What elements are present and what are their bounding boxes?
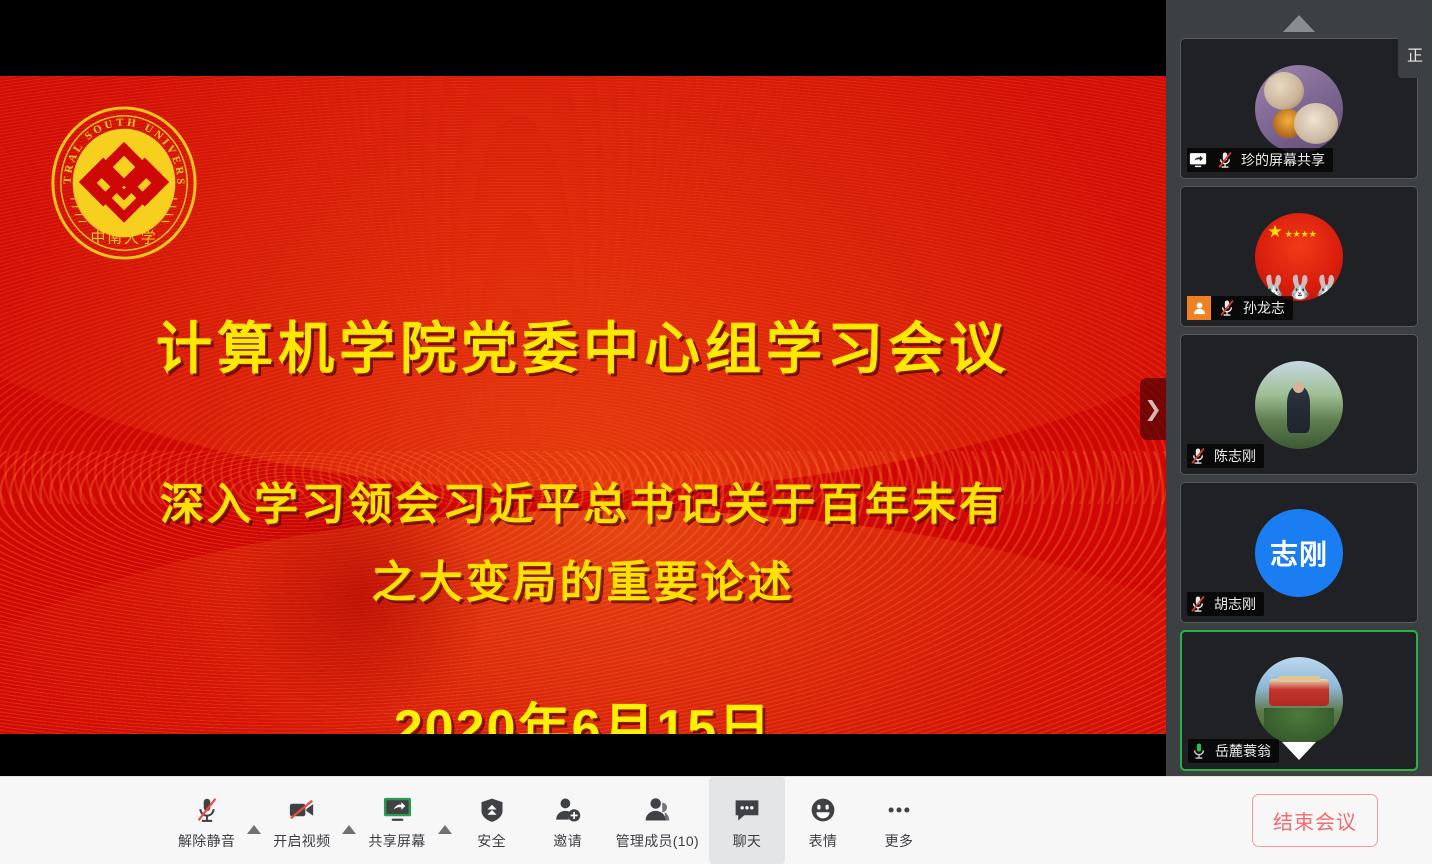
toolbar-button-participants[interactable]: 管理成员(10) [606,777,709,864]
chevron-right-icon[interactable]: ❯ [1140,378,1166,440]
share-screen-icon [382,793,413,827]
participant-name: 胡志刚 [1214,594,1256,614]
toolbar-button-add-person[interactable]: 邀请 [530,777,606,864]
toolbar-button-label: 开启视频 [273,831,330,851]
zoom-meeting-window: CENTRAL SOUTH UNIVERSITY 中南大学 计算机学院党委中心组… [0,0,1432,864]
filmstrip-scroll-up-button[interactable] [1166,8,1432,38]
presentation-slide: CENTRAL SOUTH UNIVERSITY 中南大学 计算机学院党委中心组… [0,76,1166,734]
filmstrip-scroll-down-button[interactable] [1166,736,1432,766]
toolbar-button-label: 邀请 [553,831,582,851]
participant-tile-list: 珍的屏幕共享★★★★★🐰🐰🐰孙龙志陈志刚志刚胡志刚岳麓蓑翁 [1166,38,1432,778]
toolbar-button-label: 聊天 [733,831,762,851]
slide-date: 2020年6月15日 [0,686,1166,734]
avatar [1255,657,1343,745]
microphone-muted-icon [1216,297,1238,319]
toolbar-button-emoji-smile[interactable]: 表情 [785,777,861,864]
slide-title: 计算机学院党委中心组学习会议 [0,304,1166,385]
avatar: ★★★★★🐰🐰🐰 [1255,213,1343,301]
participant-tile[interactable]: 珍的屏幕共享 [1180,38,1418,179]
toolbar-button-share-screen[interactable]: 共享屏幕 [358,777,435,864]
participant-label: 珍的屏幕共享 [1187,148,1333,172]
chat-bubble-icon [733,793,761,827]
caret-up-icon[interactable] [342,825,356,834]
shared-screen-stage[interactable]: CENTRAL SOUTH UNIVERSITY 中南大学 计算机学院党委中心组… [0,0,1166,776]
avatar [1255,361,1343,449]
screen-share-icon [1187,149,1209,171]
participant-tile[interactable]: 陈志刚 [1180,334,1418,475]
triangle-up-icon [1283,15,1315,32]
toolbar-button-group: 解除静音开启视频共享屏幕安全邀请管理成员(10)聊天表情更多 [168,777,937,864]
host-badge-icon [1187,296,1211,320]
participant-tile[interactable]: 志刚胡志刚 [1180,482,1418,623]
end-meeting-button[interactable]: 结束会议 [1252,794,1378,847]
participant-label: 陈志刚 [1187,444,1264,468]
toolbar-button-label: 解除静音 [178,831,235,851]
slide-subtitle-line-2: 之大变局的重要论述 [0,546,1166,610]
shield-icon [478,793,506,827]
toolbar-button-chat-bubble[interactable]: 聊天 [709,777,785,864]
microphone-muted-icon [1187,593,1209,615]
csu-emblem-icon: CENTRAL SOUTH UNIVERSITY 中南大学 [45,104,203,262]
toolbar-button-label: 更多 [885,831,914,851]
participant-filmstrip: 珍的屏幕共享★★★★★🐰🐰🐰孙龙志陈志刚志刚胡志刚岳麓蓑翁 [1166,0,1432,776]
participant-tile[interactable]: ★★★★★🐰🐰🐰孙龙志 [1180,186,1418,327]
more-dots-icon [885,793,913,827]
toolbar-spacer [937,777,1252,864]
participant-name: 孙龙志 [1243,298,1285,318]
participants-icon [643,793,671,827]
caret-up-icon[interactable] [247,825,261,834]
participant-label: 孙龙志 [1187,296,1293,320]
toolbar-button-label: 表情 [809,831,838,851]
triangle-down-icon [1282,742,1316,760]
toolbar-button-label: 安全 [477,831,506,851]
avatar [1255,65,1343,153]
participant-name: 珍的屏幕共享 [1241,150,1325,170]
video-off-icon [286,793,317,827]
toolbar-button-label: 共享屏幕 [368,831,425,851]
tooltip-nub: 正 [1398,30,1432,78]
toolbar-button-microphone-muted[interactable]: 解除静音 [168,777,245,864]
toolbar-button-more-dots[interactable]: 更多 [861,777,937,864]
participant-label: 胡志刚 [1187,592,1264,616]
emoji-smile-icon [809,793,837,827]
microphone-muted-icon [1187,445,1209,467]
slide-subtitle-line-1: 深入学习领会习近平总书记关于百年未有 [0,468,1166,532]
toolbar-button-video-off[interactable]: 开启视频 [263,777,340,864]
participant-name: 陈志刚 [1214,446,1256,466]
microphone-muted-icon [1214,149,1236,171]
caret-up-icon[interactable] [438,825,452,834]
svg-text:中南大学: 中南大学 [90,229,157,246]
meeting-toolbar: 解除静音开启视频共享屏幕安全邀请管理成员(10)聊天表情更多 结束会议 [0,776,1432,864]
avatar-initials: 志刚 [1255,509,1343,597]
toolbar-button-label: 管理成员(10) [616,831,699,851]
add-person-icon [554,793,582,827]
microphone-muted-icon [192,793,222,827]
toolbar-button-shield[interactable]: 安全 [454,777,530,864]
